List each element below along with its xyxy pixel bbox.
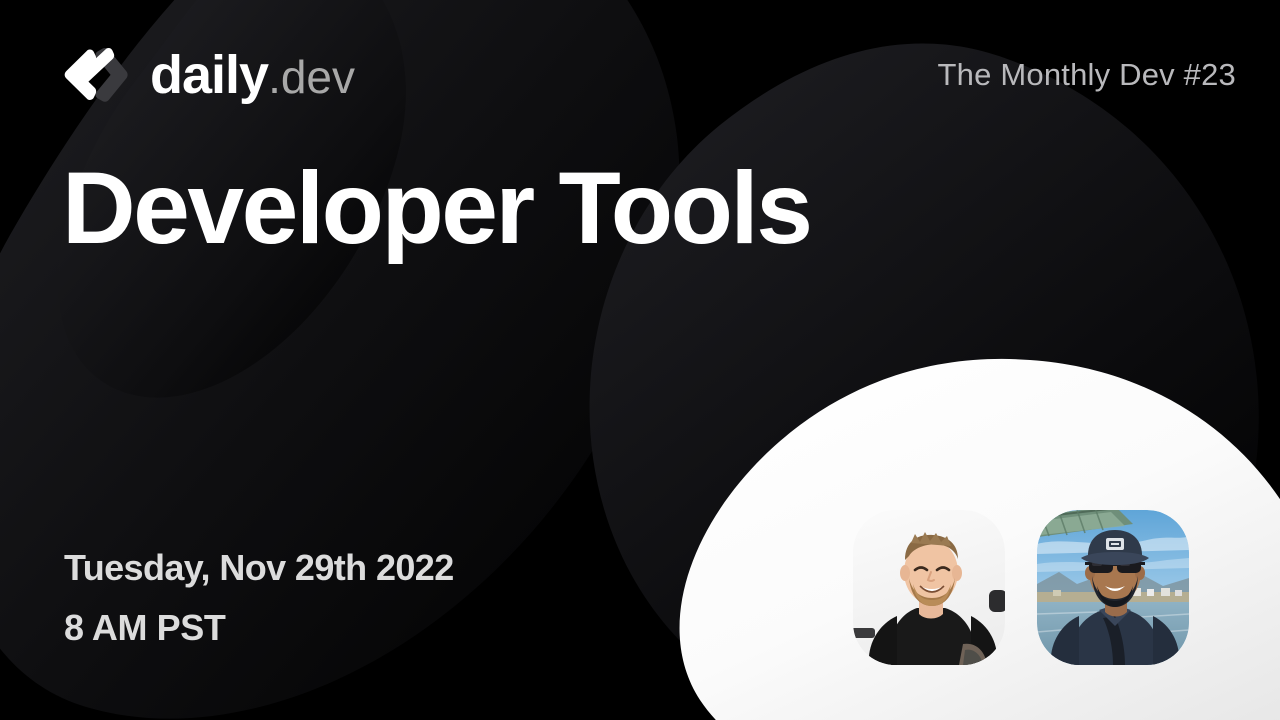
page-title: Developer Tools	[62, 155, 810, 262]
event-announcement-slide: daily.dev The Monthly Dev #23 Developer …	[0, 0, 1280, 720]
brand-word-daily: daily	[150, 48, 268, 102]
brand-wordmark: daily.dev	[150, 48, 355, 102]
event-schedule: Tuesday, Nov 29th 2022 8 AM PST	[64, 545, 454, 651]
event-time: 8 AM PST	[64, 605, 454, 651]
speaker-avatar-2[interactable]	[1037, 510, 1189, 665]
daily-dev-logo[interactable]: daily.dev	[62, 47, 355, 103]
speaker-avatar-list	[853, 510, 1189, 665]
event-date: Tuesday, Nov 29th 2022	[64, 545, 454, 591]
edition-label: The Monthly Dev #23	[938, 57, 1236, 93]
speaker-avatar-1[interactable]	[853, 510, 1005, 665]
code-brackets-icon	[62, 47, 132, 103]
slide-header: daily.dev The Monthly Dev #23	[0, 0, 1280, 150]
brand-word-dev: .dev	[268, 54, 355, 100]
